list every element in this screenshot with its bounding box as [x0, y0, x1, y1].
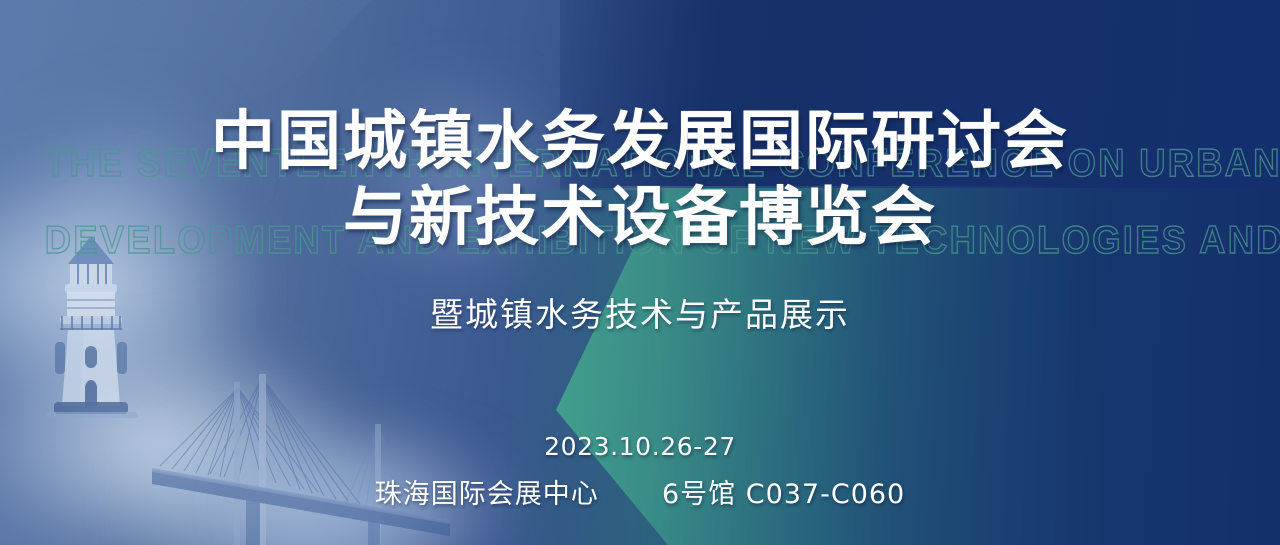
event-date: 2023.10.26-27 — [0, 432, 1280, 461]
booth-number: 6号馆 C037-C060 — [662, 479, 905, 510]
subtitle: 暨城镇水务技术与产品展示 — [0, 288, 1280, 336]
event-venue-line: 珠海国际会展中心 6号馆 C037-C060 — [0, 472, 1280, 511]
event-banner: THE SEVENTEENTH INTERNATIONAL CONFERENCE… — [0, 0, 1280, 545]
title-block: 中国城镇水务发展国际研讨会 与新技术设备博览会 — [0, 104, 1280, 256]
event-info: 2023.10.26-27 珠海国际会展中心 6号馆 C037-C060 — [0, 432, 1280, 511]
title-line-1: 中国城镇水务发展国际研讨会 — [0, 104, 1280, 180]
venue-name: 珠海国际会展中心 — [375, 479, 599, 510]
title-line-2: 与新技术设备博览会 — [0, 180, 1280, 256]
